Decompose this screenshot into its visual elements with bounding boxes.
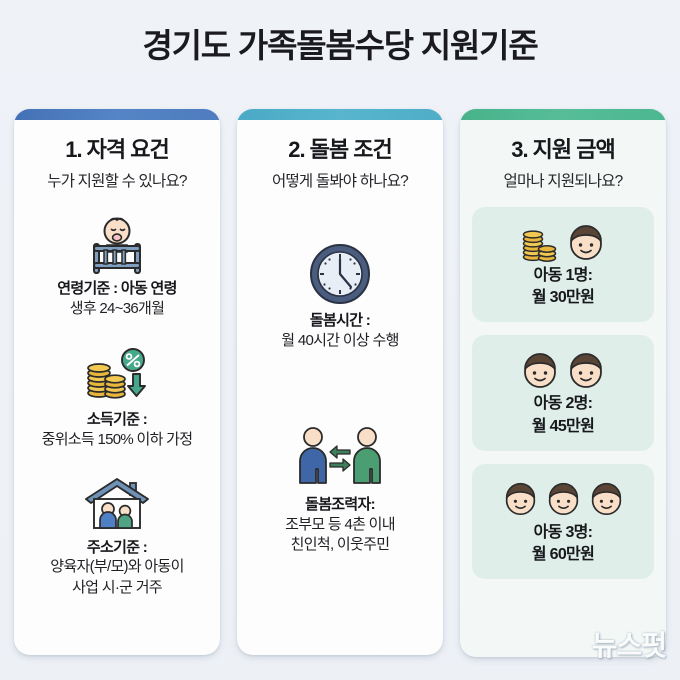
coins-percent-down-icon	[21, 344, 213, 410]
card-care-conditions: 2. 돌봄 조건 어떻게 돌봐야 하나요?	[237, 109, 443, 655]
card-subtitle-2: 어떻게 돌봐야 하나요?	[272, 169, 408, 191]
card-title-3: 3. 지원 금액	[503, 137, 622, 162]
feature-line-age-0: 생후 24~36개월	[21, 299, 213, 319]
card-header-1: 1. 자격 요건 누가 지원할 수 있나요?	[41, 120, 192, 191]
feature-label-care-helper: 돌봄조력자:	[244, 495, 436, 515]
baby-crib-icon	[21, 213, 213, 279]
amount-value-2: 월 45만원	[478, 416, 648, 438]
feature-label-care-hours: 돌봄시간 :	[244, 311, 436, 331]
feature-address-criteria: 주소기준 : 양육자(부/모)와 아동이 사업 시·군 거주	[14, 472, 220, 598]
clock-icon	[244, 237, 436, 311]
card-accent-bar-3	[460, 109, 666, 120]
card-subtitle-3: 얼마나 지원되나요?	[503, 169, 622, 191]
card-title-1: 1. 자격 요건	[47, 137, 186, 162]
amount-label-3: 아동 3명:	[478, 522, 648, 544]
feature-line-address-1: 사업 시·군 거주	[21, 578, 213, 598]
card-qualification: 1. 자격 요건 누가 지원할 수 있나요?	[14, 109, 220, 655]
feature-line-care-helper-1: 친인척, 이웃주민	[244, 535, 436, 555]
feature-line-care-hours-0: 월 40시간 이상 수행	[244, 331, 436, 351]
feature-care-hours: 돌봄시간 : 월 40시간 이상 수행	[237, 237, 443, 351]
feature-label-income: 소득기준 :	[21, 410, 213, 430]
amount-label-2: 아동 2명:	[478, 393, 648, 415]
amount-value-3: 월 60만원	[478, 544, 648, 566]
amount-box-two-children: 아동 2명: 월 45만원	[472, 335, 654, 450]
card-title-2: 2. 돌봄 조건	[272, 137, 408, 162]
infographic-page: 경기도 가족돌봄수당 지원기준 1. 자격 요건 누가 지원할 수 있나요?	[0, 0, 680, 680]
title-section: 경기도 가족돌봄수당 지원기준	[0, 0, 680, 64]
card-header-2: 2. 돌봄 조건 어떻게 돌봐야 하나요?	[266, 120, 414, 191]
feature-label-age: 연령기준 : 아동 연령	[21, 279, 213, 299]
coins-and-one-child-icon	[478, 218, 648, 265]
feature-line-address-0: 양육자(부/모)와 아동이	[21, 557, 213, 577]
card-accent-bar-2	[237, 109, 443, 120]
card-accent-bar-1	[14, 109, 220, 120]
feature-line-income-0: 중위소득 150% 이하 가정	[21, 430, 213, 450]
two-children-icon	[478, 346, 648, 393]
amount-list: 아동 1명: 월 30만원	[460, 191, 666, 578]
feature-line-care-helper-0: 조부모 등 4촌 이내	[244, 515, 436, 535]
three-children-icon	[478, 475, 648, 522]
amount-value-1: 월 30만원	[478, 287, 648, 309]
card-subtitle-1: 누가 지원할 수 있나요?	[47, 169, 186, 191]
columns-container: 1. 자격 요건 누가 지원할 수 있나요?	[14, 109, 666, 657]
two-people-exchange-icon	[244, 421, 436, 495]
card-header-3: 3. 지원 금액 얼마나 지원되나요?	[497, 120, 628, 191]
feature-label-address: 주소기준 :	[21, 538, 213, 558]
card-support-amount: 3. 지원 금액 얼마나 지원되나요?	[460, 109, 666, 657]
amount-box-one-child: 아동 1명: 월 30만원	[472, 207, 654, 322]
amount-box-three-children: 아동 3명: 월 60만원	[472, 464, 654, 579]
amount-label-1: 아동 1명:	[478, 265, 648, 287]
house-family-icon	[21, 472, 213, 538]
page-title: 경기도 가족돌봄수당 지원기준	[0, 28, 680, 64]
feature-care-helper: 돌봄조력자: 조부모 등 4촌 이내 친인척, 이웃주민	[237, 421, 443, 555]
feature-income-criteria: 소득기준 : 중위소득 150% 이하 가정	[14, 344, 220, 450]
feature-age-criteria: 연령기준 : 아동 연령 생후 24~36개월	[14, 213, 220, 319]
